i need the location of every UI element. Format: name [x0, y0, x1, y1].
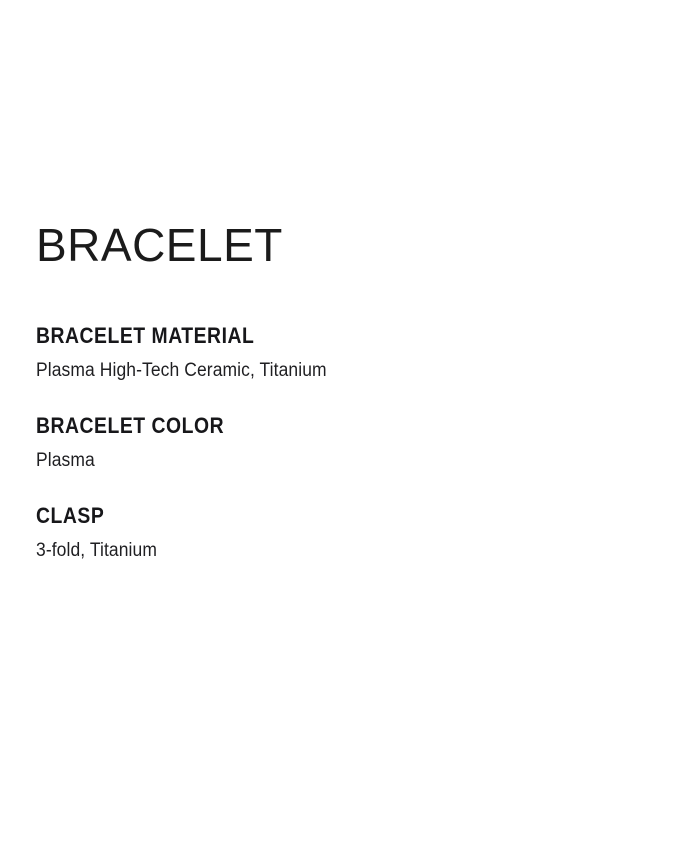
spec-value-bracelet-material: Plasma High-Tech Ceramic, Titanium: [36, 361, 606, 382]
page-title: BRACELET: [36, 222, 656, 268]
spec-group-bracelet-color: BRACELET COLOR Plasma: [36, 414, 656, 472]
spec-value-bracelet-color: Plasma: [36, 451, 606, 472]
bracelet-spec-sheet: BRACELET BRACELET MATERIAL Plasma High-T…: [36, 222, 656, 562]
spec-label-clasp: CLASP: [36, 504, 582, 527]
spec-label-bracelet-material: BRACELET MATERIAL: [36, 324, 582, 347]
spec-value-clasp: 3-fold, Titanium: [36, 541, 606, 562]
spec-list: BRACELET MATERIAL Plasma High-Tech Ceram…: [36, 324, 656, 562]
spec-group-clasp: CLASP 3-fold, Titanium: [36, 504, 656, 562]
spec-label-bracelet-color: BRACELET COLOR: [36, 414, 582, 437]
spec-group-bracelet-material: BRACELET MATERIAL Plasma High-Tech Ceram…: [36, 324, 656, 382]
